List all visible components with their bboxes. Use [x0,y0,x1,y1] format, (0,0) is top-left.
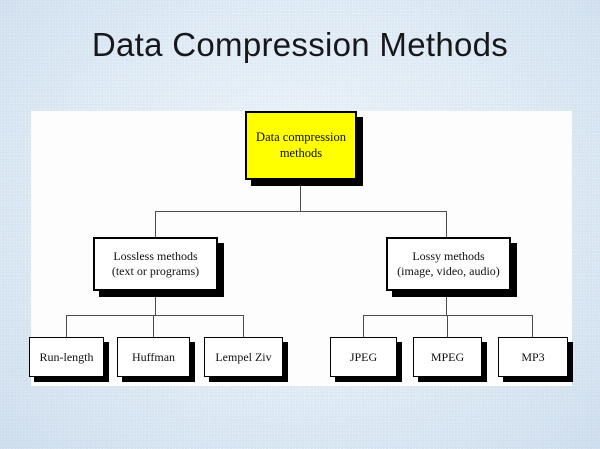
node-mpeg[interactable]: MPEG [413,337,482,377]
connector-lossless-to-run-length [66,315,67,337]
node-label-line2: (text or programs) [112,264,199,279]
node-label: JPEG [350,350,377,365]
node-lossy-methods[interactable]: Lossy methods (image, video, audio) [386,237,511,291]
node-lossless-methods[interactable]: Lossless methods (text or programs) [93,237,218,291]
node-mp3[interactable]: MP3 [498,337,568,377]
node-label: MP3 [521,350,544,365]
connector-lossy-to-jpeg [363,315,364,337]
node-label-line1: Lossless methods [113,249,197,264]
connector-lossless-to-huffman [153,315,154,337]
node-label-line2: methods [280,146,322,162]
node-lempel-ziv[interactable]: Lempel Ziv [204,337,283,377]
node-huffman[interactable]: Huffman [117,337,190,377]
node-label-line1: Data compression [256,130,346,146]
node-label: Run-length [40,350,94,365]
node-label-line2: (image, video, audio) [397,264,500,279]
connector-root-stem [300,180,301,211]
connector-lossless-to-lempel-ziv [243,315,244,337]
connector-lossless-stem [155,291,156,315]
connector-lossy-to-mpeg [447,315,448,337]
connector-lossless-bus [66,315,243,316]
node-label-line1: Lossy methods [412,249,484,264]
connector-root-to-lossless [155,211,156,237]
connector-lossy-stem [446,291,447,315]
connector-root-bus [155,211,446,212]
page-title: Data Compression Methods [0,26,600,64]
node-label: Huffman [132,350,175,365]
node-label: MPEG [431,350,464,365]
node-run-length[interactable]: Run-length [29,337,104,377]
slide-canvas: Data Compression Methods Data compressio… [0,0,600,449]
connector-lossy-to-mp3 [532,315,533,337]
connector-root-to-lossy [446,211,447,237]
node-data-compression-methods[interactable]: Data compression methods [245,111,357,180]
node-jpeg[interactable]: JPEG [330,337,397,377]
node-label: Lempel Ziv [215,350,271,365]
